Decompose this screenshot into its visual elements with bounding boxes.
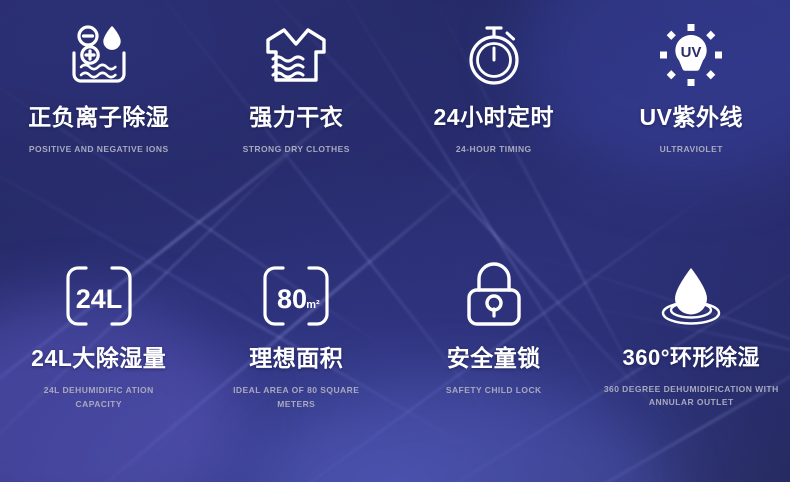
feature-subline: 360 DEGREE DEHUMIDIFICATION WITH ANNULAR… — [599, 383, 784, 409]
feature-headline: 360°环形除湿 — [622, 345, 760, 370]
feature-subline: ULTRAVIOLET — [660, 143, 723, 156]
uv-bulb-icon: UV — [660, 18, 722, 92]
capacity-icon-text: 24L — [75, 284, 122, 314]
feature-poster: 正负离子除湿 POSITIVE AND NEGATIVE IONS 强力干衣 S… — [0, 0, 790, 482]
feature-card-360-dehumidify[interactable]: 360°环形除湿 360 DEGREE DEHUMIDIFICATION WIT… — [593, 241, 790, 482]
water-drop-ripple-icon — [658, 259, 724, 333]
svg-text:UV: UV — [681, 44, 702, 61]
feature-subline: POSITIVE AND NEGATIVE IONS — [29, 143, 169, 156]
feature-headline: 24小时定时 — [433, 104, 554, 130]
feature-card-area[interactable]: 80 m² 理想面积 IDEAL AREA OF 80 SQUARE METER… — [198, 241, 396, 482]
padlock-child-lock-icon — [466, 259, 522, 333]
feature-headline: 安全童锁 — [447, 345, 541, 371]
area-80sqm-icon: 80 m² — [263, 259, 329, 333]
feature-headline: 强力干衣 — [249, 104, 343, 130]
feature-card-uv[interactable]: UV UV紫外线 ULTRAVIOLET — [593, 0, 790, 241]
feature-headline: UV紫外线 — [640, 104, 743, 130]
feature-headline: 正负离子除湿 — [28, 104, 169, 130]
feature-card-dry-clothes[interactable]: 强力干衣 STRONG DRY CLOTHES — [198, 0, 396, 241]
feature-headline: 理想面积 — [249, 345, 343, 371]
area-icon-unit: m² — [307, 299, 321, 311]
capacity-24l-icon: 24L — [66, 259, 132, 333]
feature-subline: 24-HOUR TIMING — [456, 143, 532, 156]
feature-card-capacity[interactable]: 24L 24L大除湿量 24L DEHUMIDIFIC ATION CAPACI… — [0, 241, 198, 482]
feature-subline: STRONG DRY CLOTHES — [243, 143, 350, 156]
feature-headline: 24L大除湿量 — [31, 345, 166, 371]
dry-clothes-shirt-icon — [265, 18, 327, 92]
feature-grid: 正负离子除湿 POSITIVE AND NEGATIVE IONS 强力干衣 S… — [0, 0, 790, 482]
feature-card-timer[interactable]: 24小时定时 24-HOUR TIMING — [395, 0, 593, 241]
feature-subline: 24L DEHUMIDIFIC ATION CAPACITY — [24, 384, 174, 410]
area-icon-text: 80 — [277, 284, 307, 314]
feature-subline: SAFETY CHILD LOCK — [446, 384, 542, 397]
feature-card-ion-dehumidify[interactable]: 正负离子除湿 POSITIVE AND NEGATIVE IONS — [0, 0, 198, 241]
feature-subline: IDEAL AREA OF 80 SQUARE METERS — [221, 384, 371, 410]
feature-card-child-lock[interactable]: 安全童锁 SAFETY CHILD LOCK — [395, 241, 593, 482]
stopwatch-timer-icon — [465, 18, 523, 92]
ion-dehumidify-icon — [68, 18, 130, 92]
